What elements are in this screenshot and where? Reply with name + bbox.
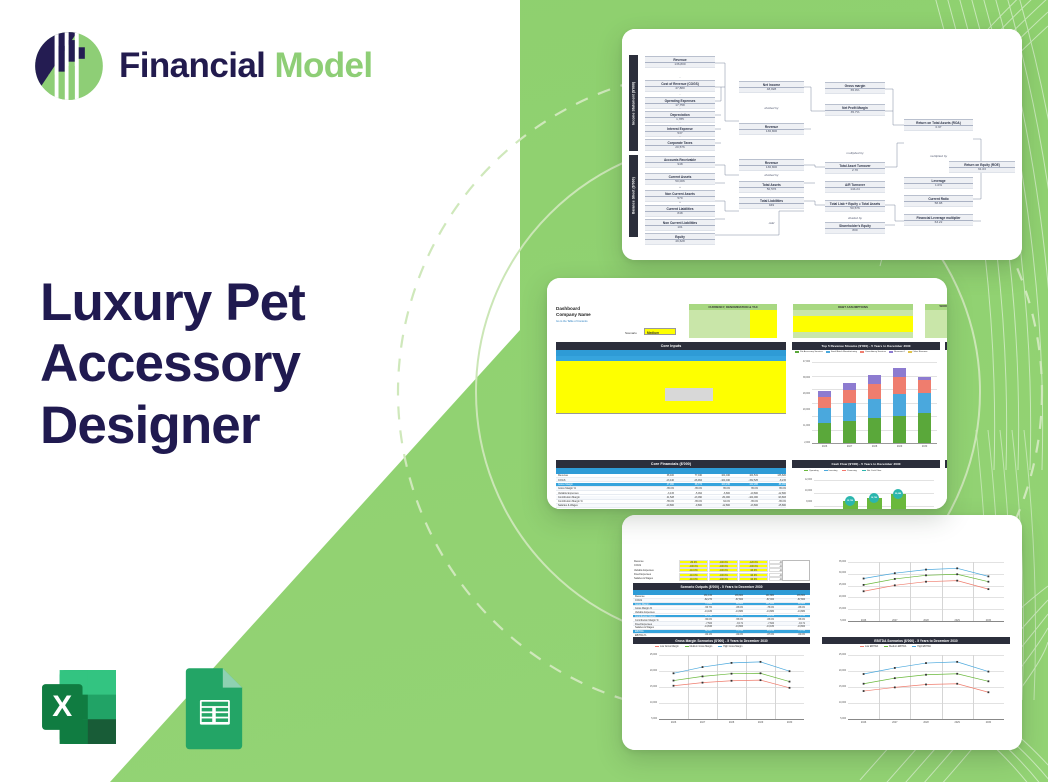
chart-ylabel: 5,000	[634, 718, 657, 720]
dupont-operator-multiplied: multiplied by	[825, 151, 885, 155]
row-value: -7,600	[745, 623, 774, 625]
row-value: -13,090	[676, 496, 702, 499]
dupont-node: Revenue136,800	[739, 159, 804, 171]
row-value: -10,800	[648, 504, 674, 507]
row-label: Fixed Expenses	[635, 623, 652, 626]
row-value: -55.0%	[714, 619, 743, 621]
chart-plot-gross-margin	[659, 655, 804, 719]
dupont-node: Current Liabilities848	[645, 205, 715, 217]
dupont-node: Total Liab + Equity = Total Assets50,576	[825, 200, 885, 212]
legend-label: Medium Gross Margin	[690, 646, 713, 648]
bar-segment	[893, 394, 906, 416]
chart-ylabel: 5,000	[823, 718, 846, 720]
legend-label: Investing	[829, 470, 838, 472]
dupont-node: Cost of Revenue (COGS)47,880	[645, 80, 715, 92]
row-value: 47,960	[648, 483, 674, 486]
assumption-values-debt[interactable]	[793, 316, 913, 332]
scenario-selector[interactable]: Medium	[644, 328, 676, 335]
row-value: 75,700	[714, 615, 743, 617]
row-value: -12,800	[704, 504, 730, 507]
legend-item: Other Revenue	[908, 351, 928, 353]
row-value: -84,000	[704, 496, 730, 499]
row-label: Gross Margin	[635, 603, 649, 606]
scenario-sheet: Revenue-80.0%-100.0%-120.0%-100.0%COGS-1…	[622, 515, 1022, 750]
panel-title-revenue-streams: Top 5 Revenue Streams ($'000) - 5 Years …	[792, 342, 940, 350]
dupont-node: Accounts Receivable948	[645, 156, 715, 168]
legend-label: Low Gross Margin	[660, 646, 679, 648]
chart-ylabel: 20,000	[634, 670, 657, 672]
dupont-operator-minus: -	[645, 134, 715, 138]
row-label: Variable Expenses	[634, 569, 654, 572]
table-row: Fixed Expenses-5,100-5,100-9,077-10,011-…	[556, 508, 786, 509]
row-value: -65.0%	[776, 607, 805, 609]
bar-segment	[843, 421, 856, 443]
legend-label: Medium EBITDA	[889, 646, 906, 648]
chart-xlabel: 2029	[754, 721, 768, 724]
row-value: -152,525	[732, 479, 758, 482]
row-value: 67,710	[683, 615, 712, 617]
dupont-operator-minus: -	[645, 92, 715, 96]
chart-xlabel: 2030	[981, 619, 995, 622]
dupont-operator-plus: +	[645, 185, 715, 189]
legend-swatch	[685, 646, 689, 648]
row-value: -62.1%	[683, 634, 712, 636]
row-value: 100,230	[704, 483, 730, 486]
row-label: Salaries & Wages	[558, 504, 578, 507]
page-title: Luxury Pet Accessory Designer	[40, 272, 440, 456]
dupont-operator-multiplied: multiplied by	[904, 154, 973, 158]
panel-title-gross-margin-scenarios: Gross Margin Scenarios ($'000) - 5 Years…	[633, 637, 810, 644]
row-label: Variable Expenses	[635, 611, 655, 614]
row-value: -65.0%	[760, 500, 786, 503]
row-value: -9,800	[676, 504, 702, 507]
bar-segment	[893, 377, 906, 394]
row-value: -13,800	[732, 504, 758, 507]
legend-label: High EBITDA	[917, 646, 931, 648]
bar-segment	[843, 383, 856, 390]
dupont-node: Net Income48,828	[739, 81, 804, 93]
dupont-node: Financial Leverage multiplier63.22	[904, 214, 973, 226]
bar-segment	[843, 390, 856, 403]
svg-text:X: X	[52, 690, 72, 723]
legend-item: Medium Gross Margin	[685, 646, 713, 648]
row-value: -13,880	[776, 611, 805, 613]
panel-title-cash-flow: Cash Flow ($'000) - 5 Years to December …	[792, 460, 940, 468]
chart-ylabel: 10,000	[634, 702, 657, 704]
assumption-block-wc	[925, 310, 947, 338]
row-value: 131,130	[683, 595, 712, 597]
dupont-node: Current Ratio58.98	[904, 195, 973, 207]
row-value: 104,040	[704, 474, 730, 477]
row-value: -50.0%	[683, 619, 712, 621]
screenshot-scenario-analysis[interactable]: Revenue-80.0%-100.0%-120.0%-100.0%COGS-1…	[622, 515, 1022, 750]
chart-ylabel: 15,000	[634, 686, 657, 688]
dupont-operator-divided: divided by	[739, 106, 804, 110]
legend-swatch	[889, 351, 893, 353]
row-value: -56.7%	[683, 607, 712, 609]
brand-word-model: Model	[274, 46, 372, 85]
chart-ylabel: 25,000	[823, 654, 846, 656]
chart-ylabel: 10,000	[823, 702, 846, 704]
brand-word-financial: Financial	[119, 46, 265, 85]
legend-label: Revenue 4	[894, 351, 905, 353]
row-value: 95,132	[745, 630, 774, 632]
bar-segment	[868, 418, 881, 443]
row-value: 136,800	[776, 595, 805, 597]
chart-xlabel: 2030	[918, 445, 932, 448]
row-value: -93,803	[760, 496, 786, 499]
legend-item: Financing	[842, 470, 857, 472]
screenshot-dupont-analysis[interactable]: Income Statement ($'000) Balance Sheet (…	[622, 29, 1022, 260]
chart-cash-flow[interactable]: OperatingInvestingFinancingNet Cash Flow…	[792, 468, 940, 509]
row-label: Salaries & Wages	[634, 577, 653, 580]
bar-segment	[818, 423, 831, 443]
row-value: -13,180	[745, 626, 774, 628]
brand-wordmark: Financial Model	[119, 46, 373, 86]
row-label: Contribution Margin %	[635, 619, 659, 622]
chart-ylabel: 15,000	[823, 608, 846, 610]
chart-xlabel: 2028	[725, 721, 739, 724]
table-of-contents-link[interactable]: Go to the Table of Contents	[556, 320, 588, 323]
row-label: Contribution Margin	[558, 496, 580, 499]
dupont-node: Net Profit Margin35.7%	[825, 104, 885, 116]
bar-segment	[843, 403, 856, 420]
microsoft-excel-icon[interactable]: X	[35, 663, 123, 751]
chart-ylabel: 35,000	[823, 561, 846, 563]
row-value: 141,880	[745, 595, 774, 597]
dupont-group-balance-sheet: Balance Sheet ($'000)	[629, 155, 638, 237]
row-label: Fixed Expenses	[634, 573, 651, 576]
row-value[interactable]: -110.0%	[679, 577, 708, 581]
legend-item: Operating	[804, 470, 819, 472]
chart-ylabel: 8,000	[793, 501, 812, 503]
dupont-group-income-statement: Income Statement ($'000)	[629, 55, 638, 151]
row-value: -82,270	[683, 599, 712, 601]
dupont-sheet: Income Statement ($'000) Balance Sheet (…	[622, 29, 1022, 260]
row-value: -15,800	[760, 504, 786, 507]
legend-swatch	[860, 351, 864, 353]
legend-swatch	[718, 646, 722, 648]
legend-item: High EBITDA	[912, 646, 931, 648]
legend-item: Consultancy Services	[860, 351, 886, 353]
row-value: -62.0%	[776, 634, 805, 636]
chart-investment-payback[interactable]: Payback yearCumulative Cash Invested (Gr…	[945, 468, 947, 509]
row-value: -55.0%	[776, 619, 805, 621]
dupont-node: Total Asset Turnover2.70	[825, 162, 885, 174]
bar-segment	[868, 384, 881, 399]
legend-label: Other Revenue	[913, 351, 928, 353]
row-value: 64.0%	[704, 500, 730, 503]
legend-label: Low EBITDA	[865, 646, 878, 648]
legend-swatch	[908, 351, 912, 353]
row-value: -65.0%	[732, 500, 758, 503]
chart-xlabel: 2026	[857, 721, 871, 724]
chart-ylabel: 38,000	[793, 377, 810, 379]
row-value: 136,800	[714, 595, 743, 597]
row-label: Gross Margin %	[558, 487, 576, 490]
scenario-label: Scenario	[625, 331, 637, 335]
legend-swatch	[860, 646, 864, 648]
chart-ylabel: 20,000	[823, 670, 846, 672]
legend-item: Net Cash Flow	[862, 470, 881, 472]
row-value: -104,000	[732, 496, 758, 499]
row-value: 65.0%	[732, 487, 758, 490]
chart-legend-gross-margin: Low Gross MarginMedium Gross MarginHigh …	[655, 646, 742, 648]
row-value: -13,880	[745, 611, 774, 613]
row-value: 74,860	[683, 603, 712, 605]
scenario-value: Medium	[647, 331, 659, 335]
row-value: -65.0%	[745, 619, 774, 621]
chart-ylabel: 29,000	[793, 393, 810, 395]
chart-legend-revenue: Pet Accessory ServicesSmall Batch Manufa…	[795, 351, 937, 353]
row-label: EBITDA	[635, 630, 644, 633]
bar-segment	[818, 391, 831, 398]
chart-gross-margin-scenarios[interactable]: Low Gross MarginMedium Gross MarginHigh …	[633, 644, 810, 732]
chart-xlabel: 2029	[950, 721, 964, 724]
financial-model-logo-icon	[33, 30, 105, 102]
legend-item: Small Batch Manufacturing	[826, 351, 857, 353]
dashboard-sheet: Dashboard Company Name Go to the Table o…	[547, 278, 947, 509]
assumption-values-currency[interactable]	[750, 310, 777, 338]
data-bubble: 16,700	[869, 493, 879, 503]
row-value: -5,094	[676, 492, 702, 495]
row-value: -8,171	[714, 623, 743, 625]
legend-label: Operating	[809, 470, 819, 472]
dupont-node: Corporate Taxes20,576	[645, 139, 715, 151]
scenario-series-lines	[848, 562, 1004, 621]
left-content-column: Financial Model Luxury Pet Accessory Des…	[0, 0, 470, 782]
legend-swatch	[804, 470, 808, 472]
legend-swatch	[655, 646, 659, 648]
dupont-operator-add: Add	[739, 221, 804, 225]
row-label: Contribution Margin	[635, 615, 656, 618]
dupont-node: Gross margin65.0%	[825, 82, 885, 94]
row-label: Gross Margin %	[635, 607, 652, 610]
dupont-operator-plus: +	[645, 200, 715, 204]
legend-swatch	[862, 470, 866, 472]
chart-ylabel: 15,000	[823, 686, 846, 688]
bar-segment	[818, 408, 831, 423]
row-label: COGS	[634, 564, 641, 567]
row-value: -65.0%	[676, 487, 702, 490]
dupont-operator-divided: divided by	[739, 173, 804, 177]
chart-xlabel: 2028	[919, 619, 933, 622]
row-value: 122,286	[732, 483, 758, 486]
row-value: -26,964	[676, 479, 702, 482]
dupont-node: Current Assets50,006	[645, 173, 715, 185]
chart-xlabel: 2029	[893, 445, 907, 448]
row-value: -10,800	[732, 492, 758, 495]
app-format-icons: X	[35, 663, 258, 751]
chart-ylabel: 2,000	[793, 442, 810, 444]
legend-swatch	[826, 351, 830, 353]
chart-ylabel: 20,000	[793, 409, 810, 411]
dupont-operator-minus: -	[645, 106, 715, 110]
row-value[interactable]: -90.0%	[739, 577, 768, 581]
row-value: -8,171	[776, 623, 805, 625]
dupont-node-roe: Return on Equity (ROE)61.03	[949, 161, 1015, 173]
panel-title-core-financials: Core Financials ($'000)	[556, 460, 786, 468]
chart-xlabel: 2029	[950, 619, 964, 622]
row-value: 88,800	[776, 603, 805, 605]
legend-swatch	[884, 646, 888, 648]
legend-item: Revenue 4	[889, 351, 905, 353]
row-value: 107,180	[745, 603, 774, 605]
row-value: 88,960	[760, 483, 786, 486]
bar-segment	[868, 375, 881, 383]
dupont-node: Return on Total Assets (ROA)0.97	[904, 119, 973, 131]
row-value: -13,800	[776, 626, 805, 628]
legend-item: Low EBITDA	[860, 646, 878, 648]
chart-xlabel: 2027	[696, 721, 710, 724]
dupont-node: Total Liabilities949	[739, 197, 804, 209]
bar-segment	[918, 380, 931, 393]
bar-segment	[918, 393, 931, 413]
row-label: Variable Expenses	[558, 492, 579, 495]
row-value: 65.0%	[760, 487, 786, 490]
chart-ylabel: 12,000	[793, 479, 812, 481]
row-value: -13,880	[714, 611, 743, 613]
chart-xlabel: 2028	[868, 445, 882, 448]
legend-swatch	[795, 351, 799, 353]
axis-line	[848, 719, 1004, 720]
chart-profitability[interactable]: RevenueEBITDAEBITDA % 60.4%59.1%62.4%61.…	[945, 350, 947, 454]
row-label: COGS	[558, 479, 565, 482]
screenshot-financial-dashboard[interactable]: Dashboard Company Name Go to the Table o…	[547, 278, 947, 509]
row-value: -7,500	[683, 623, 712, 625]
panel-title-profitability: Profitability ($'000) - 5 Years to Decem…	[945, 342, 947, 350]
panel-title-scenario-outputs: Scenario Outputs ($'000) - 5 Years to De…	[633, 583, 810, 590]
dupont-node: Revenue136,800	[645, 56, 715, 68]
row-value[interactable]: -100.0%	[709, 577, 738, 581]
chart-xlabel: 2026	[667, 721, 681, 724]
scenario-active-column	[782, 560, 810, 581]
chart-ebitda-scenarios[interactable]: Low EBITDAMedium EBITDAHigh EBITDA 25,00…	[822, 644, 1010, 732]
dupont-node: Equity49,628	[645, 233, 715, 245]
chart-top-5-revenue-streams[interactable]: Pet Accessory ServicesSmall Batch Manufa…	[792, 350, 940, 454]
legend-label: Small Batch Manufacturing	[831, 351, 857, 353]
row-label: Revenue	[634, 560, 644, 563]
row-value: 88,800	[714, 603, 743, 605]
row-label: COGS	[635, 599, 642, 602]
legend-item: Low Gross Margin	[655, 646, 679, 648]
row-value: -13,440	[648, 479, 674, 482]
dupont-node: Revenue136,800	[739, 123, 804, 135]
row-value: -13,800	[714, 626, 743, 628]
chart-plot-revenue	[812, 362, 937, 443]
google-sheets-icon[interactable]	[170, 663, 258, 751]
chart-legend-ebitda: Low EBITDAMedium EBITDAHigh EBITDA	[860, 646, 931, 648]
row-value: -67.0%	[745, 634, 774, 636]
legend-label: Pet Accessory Services	[800, 351, 823, 353]
row-value: -3,415	[648, 492, 674, 495]
core-inputs-total-row	[556, 413, 786, 421]
legend-item: Pet Accessory Services	[795, 351, 823, 353]
core-inputs-data-cells[interactable]	[556, 361, 786, 413]
dupont-node: Leverage1.0%	[904, 177, 973, 189]
row-value: -55.0%	[648, 500, 674, 503]
chart-ylabel: 11,000	[793, 425, 810, 427]
row-value: 104,531	[732, 474, 758, 477]
row-label: Revenue	[558, 474, 568, 477]
core-inputs-blank-cells	[665, 388, 713, 401]
legend-swatch	[912, 646, 916, 648]
legend-swatch	[842, 470, 846, 472]
row-value: 38,400	[648, 474, 674, 477]
row-value: 65.0%	[704, 487, 730, 490]
row-value: 75,700	[776, 630, 805, 632]
row-value: -62.0%	[714, 634, 743, 636]
legend-label: Consultancy Services	[865, 351, 886, 353]
chart-revenue-scenarios[interactable]: 35,00030,00025,00020,00015,0005,000 2026…	[822, 558, 1010, 634]
dupont-node: Non Current Liabilities101	[645, 219, 715, 231]
brand-logo[interactable]: Financial Model	[33, 30, 373, 102]
chart-plot-revenue-scenarios	[848, 562, 1004, 621]
panel-title-investment-payback: Investment Payback Chart ($'000) - 5 Yea…	[945, 460, 947, 468]
chart-xlabel: 2028	[919, 721, 933, 724]
legend-item: High Gross Margin	[718, 646, 742, 648]
row-label: Gross Margin	[558, 483, 573, 486]
row-value: -65.0%	[714, 607, 743, 609]
axis-line	[812, 443, 937, 444]
legend-item: Medium EBITDA	[884, 646, 906, 648]
dupont-operator-minus: -	[645, 120, 715, 124]
row-value: -14,840	[683, 626, 712, 628]
panel-title-ebitda-scenarios: EBITDA Scenarios ($'000) - 5 Years to De…	[822, 637, 1010, 644]
chart-xlabel: 2027	[843, 445, 857, 448]
row-label: Salaries & Wages	[635, 626, 654, 629]
scenario-series-lines	[659, 655, 804, 719]
bar-segment	[918, 413, 931, 443]
row-value: -12,800	[760, 492, 786, 495]
chart-xlabel: 2027	[888, 619, 902, 622]
promo-banner: Financial Model Luxury Pet Accessory Des…	[0, 0, 1048, 782]
row-value: 75,700	[776, 615, 805, 617]
row-value: -6,800	[704, 492, 730, 495]
chart-ylabel: 20,000	[823, 596, 846, 598]
dupont-node: A/R Turnover144.24	[825, 181, 885, 193]
row-value: -8,215	[760, 479, 786, 482]
chart-ylabel: 10,000	[793, 490, 812, 492]
legend-swatch	[824, 470, 828, 472]
chart-xlabel: 2026	[857, 619, 871, 622]
scenario-series-lines	[848, 655, 1004, 719]
chart-ylabel: 30,000	[823, 572, 846, 574]
chart-ylabel: 47,000	[793, 361, 810, 363]
dashboard-heading: Dashboard Company Name	[556, 306, 591, 317]
row-value: -75.0%	[745, 607, 774, 609]
dupont-node: Total Assets50,576	[739, 181, 804, 193]
row-value: 136,820	[760, 474, 786, 477]
chart-xlabel: 2027	[888, 721, 902, 724]
row-value: -87,800	[776, 599, 805, 601]
chart-plot-ebitda	[848, 655, 1004, 719]
row-value: 52,007	[683, 630, 712, 632]
legend-label: Financing	[847, 470, 857, 472]
chart-xlabel: 2026	[818, 445, 832, 448]
row-value: -13,180	[683, 611, 712, 613]
bar-segment	[818, 397, 831, 408]
chart-ylabel: 25,000	[823, 584, 846, 586]
chart-ylabel: 25,000	[634, 654, 657, 656]
dupont-operator-minus: -	[645, 75, 715, 79]
row-value: -87,800	[714, 599, 743, 601]
dupont-tree: Income Statement ($'000) Balance Sheet (…	[629, 53, 1017, 238]
dupont-operator-divided: divided by	[825, 216, 885, 220]
row-value: -65.0%	[676, 500, 702, 503]
bar-segment	[893, 416, 906, 443]
legend-label: High Gross Margin	[723, 646, 742, 648]
